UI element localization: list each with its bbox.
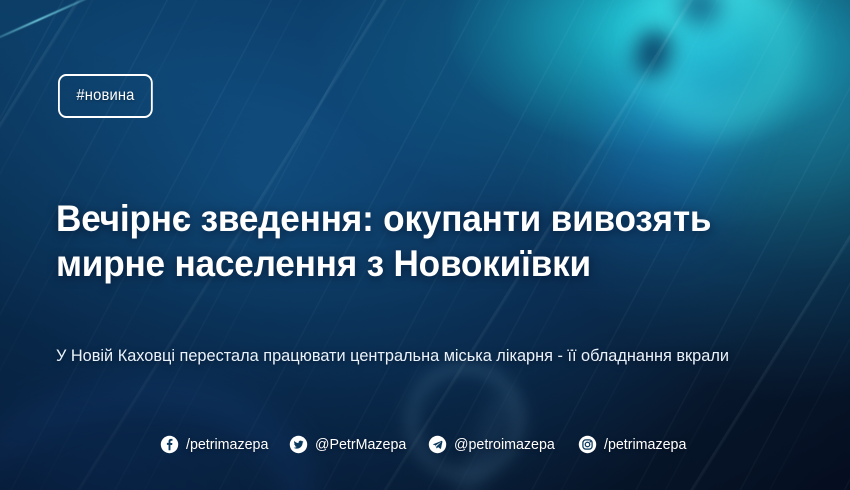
social-link-facebook[interactable]: /petrimazepa [160,435,273,454]
social-link-twitter[interactable]: @PetrMazepa [289,435,411,454]
news-banner: #новина Вечірнє зведення: окупанти вивоз… [0,0,850,490]
tag-badge-label: #новина [76,87,134,105]
facebook-icon [160,435,179,454]
tag-badge-novyna[interactable]: #новина [58,74,153,118]
social-link-instagram[interactable]: /petrimazepa [578,435,691,454]
social-link-telegram[interactable]: @petroimazepa [428,435,560,454]
social-links-bar: /petrimazepa @PetrMazepa [0,435,850,454]
banner-content: #новина Вечірнє зведення: окупанти вивоз… [0,0,850,490]
telegram-handle: @petroimazepa [454,436,555,453]
facebook-handle: /petrimazepa [186,436,268,453]
instagram-icon [578,435,597,454]
page-title: Вечірнє зведення: окупанти вивозять мирн… [56,196,721,286]
subtitle-text: У Новій Каховці перестала працювати цент… [56,344,766,368]
instagram-handle: /petrimazepa [604,436,686,453]
telegram-icon [428,435,447,454]
twitter-icon [289,435,308,454]
twitter-handle: @PetrMazepa [315,436,406,453]
